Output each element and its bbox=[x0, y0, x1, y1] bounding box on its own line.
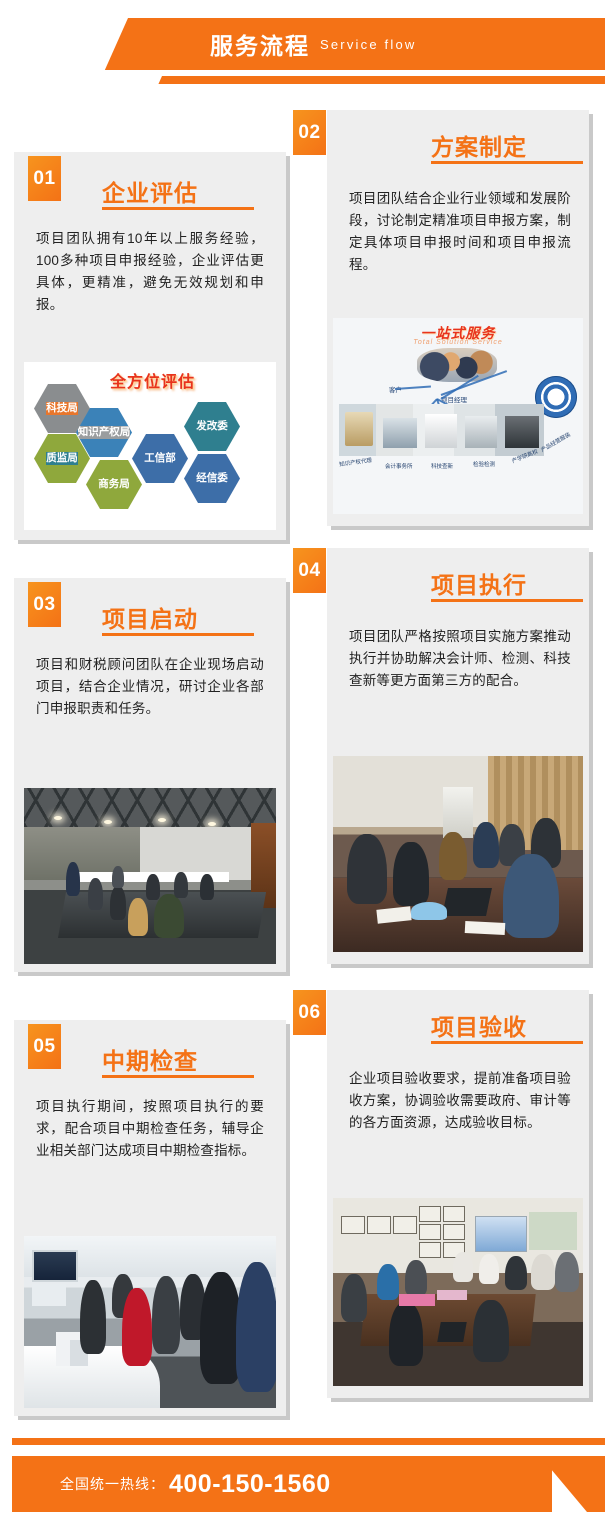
card-02-number: 02 bbox=[293, 110, 326, 155]
photo-site-visit bbox=[24, 1236, 276, 1408]
card-05-title-rule bbox=[102, 1075, 254, 1078]
page-header: 服务流程 Service flow bbox=[0, 0, 605, 100]
photo-scene bbox=[24, 1236, 276, 1408]
service-diagram-label-accounting: 会计事务所 bbox=[385, 462, 413, 470]
hex-node-jingxinwei: 经信委 bbox=[184, 454, 240, 503]
footer-hotline-group: 全国统一热线： 400-150-1560 bbox=[60, 1456, 331, 1512]
page-footer: 全国统一热线： 400-150-1560 bbox=[0, 1418, 605, 1538]
card-05-body: 项目执行期间，按照项目执行的要求，配合项目中期检查任务，辅导企业相关部门达成项目… bbox=[36, 1096, 264, 1162]
card-04-title: 项目执行 bbox=[431, 566, 527, 600]
hex-node-fagaiwei: 发改委 bbox=[184, 402, 240, 451]
photo-scene bbox=[333, 756, 583, 952]
header-title-group: 服务流程 Service flow bbox=[210, 20, 605, 68]
card-01-body: 项目团队拥有10年以上服务经验，100多种项目申报经验，企业评估更具体，更精准，… bbox=[36, 228, 264, 315]
card-02-title-rule bbox=[431, 161, 583, 164]
card-01-number: 01 bbox=[28, 156, 61, 201]
service-diagram-label-ip-agency: 知识产权代理 bbox=[339, 456, 373, 469]
hex-node-label: 科技局 bbox=[46, 402, 78, 414]
card-03-body: 项目和财税顾问团队在企业现场启动项目，结合企业情况，研讨企业各部门申报职责和任务… bbox=[36, 654, 264, 720]
hex-node-label: 商务局 bbox=[98, 478, 130, 490]
footer-stripe bbox=[12, 1438, 552, 1445]
card-03-number: 03 bbox=[28, 582, 61, 627]
card-04-number: 04 bbox=[293, 548, 326, 593]
card-04-body: 项目团队严格按照项目实施方案推动执行并协助解决会计师、检测、科技查新等更方面第三… bbox=[349, 626, 571, 692]
card-06-body: 企业项目验收要求，提前准备项目验收方案，协调验收需要政府、审计等的各方面资源，达… bbox=[349, 1068, 571, 1134]
card-06[interactable]: 06 项目验收 企业项目验收要求，提前准备项目验收方案，协调验收需要政府、审计等… bbox=[293, 990, 593, 1402]
header-stripe bbox=[178, 76, 605, 84]
photo-acceptance-meeting bbox=[333, 1198, 583, 1386]
hex-node-label: 经信委 bbox=[196, 472, 228, 484]
card-05-number: 05 bbox=[28, 1024, 61, 1069]
hex-diagram-title: 全方位评估 bbox=[110, 368, 195, 392]
page-title: 服务流程 bbox=[210, 27, 310, 61]
hex-node-label: 知识产权局 bbox=[78, 426, 131, 438]
service-flow-infographic: 服务流程 Service flow 01 企业评估 项目团队拥有10年以上服务经… bbox=[0, 0, 605, 1538]
card-03-title-rule bbox=[102, 633, 254, 636]
hex-node-label: 质监局 bbox=[46, 452, 78, 464]
card-02[interactable]: 02 方案制定 项目团队结合企业行业领域和发展阶段，讨论制定精准项目申报方案，制… bbox=[293, 110, 593, 530]
photo-scene bbox=[24, 788, 276, 964]
footer-stripe-diagonal bbox=[546, 1438, 605, 1445]
photo-working-session bbox=[333, 756, 583, 952]
card-03[interactable]: 03 项目启动 项目和财税顾问团队在企业现场启动项目，结合企业情况，研讨企业各部… bbox=[14, 578, 292, 976]
hex-diagram: 全方位评估 科技局 知识产权局 质监局 工信部 商务局 发改委 经信委 bbox=[24, 362, 276, 530]
hotline-number[interactable]: 400-150-1560 bbox=[169, 1470, 331, 1499]
hex-node-label: 工信部 bbox=[144, 452, 176, 464]
card-06-title: 项目验收 bbox=[431, 1008, 527, 1042]
hex-node-gongxinbu: 工信部 bbox=[132, 434, 188, 483]
card-02-title: 方案制定 bbox=[431, 128, 527, 162]
card-01[interactable]: 01 企业评估 项目团队拥有10年以上服务经验，100多种项目申报经验，企业评估… bbox=[14, 152, 292, 544]
hex-node-label: 发改委 bbox=[196, 420, 228, 432]
card-01-title: 企业评估 bbox=[102, 174, 198, 208]
card-04-title-rule bbox=[431, 599, 583, 602]
service-diagram-label-product: 产品经营服装 bbox=[539, 430, 572, 453]
card-03-title: 项目启动 bbox=[102, 600, 198, 634]
card-05[interactable]: 05 中期检查 项目执行期间，按照项目执行的要求，配合项目中期检查任务，辅导企业… bbox=[14, 1020, 292, 1420]
service-diagram-label-inspection: 检验检测 bbox=[473, 460, 495, 468]
card-04[interactable]: 04 项目执行 项目团队严格按照项目实施方案推动执行并协助解决会计师、检测、科技… bbox=[293, 548, 593, 968]
card-06-title-rule bbox=[431, 1041, 583, 1044]
card-02-body: 项目团队结合企业行业领域和发展阶段，讨论制定精准项目申报方案，制定具体项目申报时… bbox=[349, 188, 571, 275]
card-01-title-rule bbox=[102, 207, 254, 210]
hex-node-shangwuju: 商务局 bbox=[86, 460, 142, 509]
photo-meeting-room bbox=[24, 788, 276, 964]
one-stop-service-diagram: 一站式服务 Total Solution Service 客户 项目经理 SD … bbox=[333, 318, 583, 514]
page-subtitle: Service flow bbox=[320, 37, 416, 52]
card-06-number: 06 bbox=[293, 990, 326, 1035]
service-diagram-subtitle: Total Solution Service bbox=[413, 339, 502, 346]
service-diagram-label-tech-search: 科技查新 bbox=[431, 462, 453, 470]
hotline-label: 全国统一热线： bbox=[60, 1474, 165, 1494]
service-diagram-photo-strip bbox=[339, 404, 544, 456]
seal-label: SD bbox=[550, 393, 561, 402]
photo-scene bbox=[333, 1198, 583, 1386]
card-05-title: 中期检查 bbox=[102, 1042, 198, 1076]
